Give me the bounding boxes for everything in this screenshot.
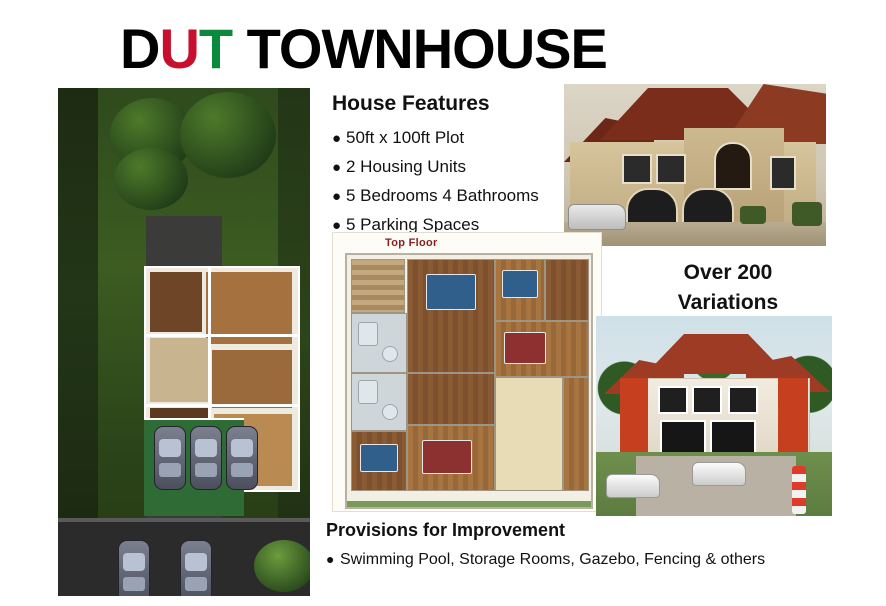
wall-line [146,404,298,407]
bed-icon [504,332,546,364]
variations-line-1: Over 200 [628,258,828,288]
floor-room [212,350,292,408]
title-letter-t: T [199,17,232,80]
tree-icon [114,148,188,210]
kerb-marker [792,466,806,514]
house-features-heading: House Features [332,92,582,116]
staircase [351,259,405,313]
bullet-icon: ● [332,125,346,153]
toilet-icon [382,404,398,420]
window-icon [692,386,722,414]
window-icon [728,386,758,414]
car-icon [190,426,222,490]
car-icon [692,462,746,486]
arch-window-icon [714,142,752,190]
house-features-block: House Features ●50ft x 100ft Plot ●2 Hou… [332,92,582,240]
hedge-icon [740,206,766,224]
list-item-label: 5 Bedrooms 4 Bathrooms [346,186,539,205]
hedge-icon [792,202,822,226]
page-title: DUT TOWNHOUSE [120,18,820,80]
bedroom [407,259,495,373]
floor-room [150,338,208,402]
title-rest: TOWNHOUSE [232,17,607,80]
bathtub-icon [358,380,378,404]
list-item: ●5 Bedrooms 4 Bathrooms [332,182,582,211]
render-accent-panel [778,378,808,454]
bed-icon [502,270,538,298]
window-icon [622,154,652,184]
exterior-render-front [564,84,826,246]
provisions-block: Provisions for Improvement ●Swimming Poo… [326,520,796,572]
bullet-icon: ● [332,154,346,182]
title-letter-d: D [120,17,159,80]
bedroom [407,425,495,491]
floor-plan-label: Top Floor [385,237,438,249]
tree-icon [180,92,276,178]
poster-canvas: DUT TOWNHOUSE House Fea [0,0,886,606]
bedroom [545,259,589,321]
car-icon [118,540,150,596]
bed-icon [360,444,398,472]
car-icon [568,204,626,230]
window-icon [656,154,686,184]
list-item: ●2 Housing Units [332,153,582,182]
floor-room [150,272,202,332]
balcony [563,377,589,491]
wall-line [146,334,298,337]
provisions-heading: Provisions for Improvement [326,520,796,541]
list-item: ●Swimming Pool, Storage Rooms, Gazebo, F… [326,547,796,572]
site-plan-kerb [58,518,310,522]
list-item-label: 2 Housing Units [346,157,466,176]
window-icon [658,386,688,414]
list-item: ●50ft x 100ft Plot [332,124,582,153]
bathtub-icon [358,322,378,346]
variations-block: Over 200 Variations [628,258,828,318]
floor-plan-frame [345,253,593,509]
title-letter-u: U [159,17,198,80]
bathroom [351,373,407,431]
car-icon [154,426,186,490]
plan-edge [347,501,591,507]
car-icon [226,426,258,490]
exterior-render-variation [596,316,832,516]
toilet-icon [382,346,398,362]
floor-plan-image: Top Floor [332,232,602,512]
bedroom [495,321,589,377]
window-icon [770,156,796,190]
living-area [495,377,563,491]
car-icon [180,540,212,596]
house-features-list: ●50ft x 100ft Plot ●2 Housing Units ●5 B… [332,124,582,240]
list-item-label: Swimming Pool, Storage Rooms, Gazebo, Fe… [340,551,765,568]
bed-icon [426,274,476,310]
render-accent-panel [620,378,648,454]
bullet-icon: ● [326,547,340,571]
list-item-label: 50ft x 100ft Plot [346,128,464,147]
bedroom [351,431,407,491]
bullet-icon: ● [332,183,346,211]
tree-icon [254,540,310,592]
car-icon [606,474,660,498]
bathroom [351,313,407,373]
corridor [407,373,495,425]
bed-icon [422,440,472,474]
site-plan-image [58,88,310,596]
bedroom [495,259,545,321]
variations-line-2: Variations [628,288,828,318]
